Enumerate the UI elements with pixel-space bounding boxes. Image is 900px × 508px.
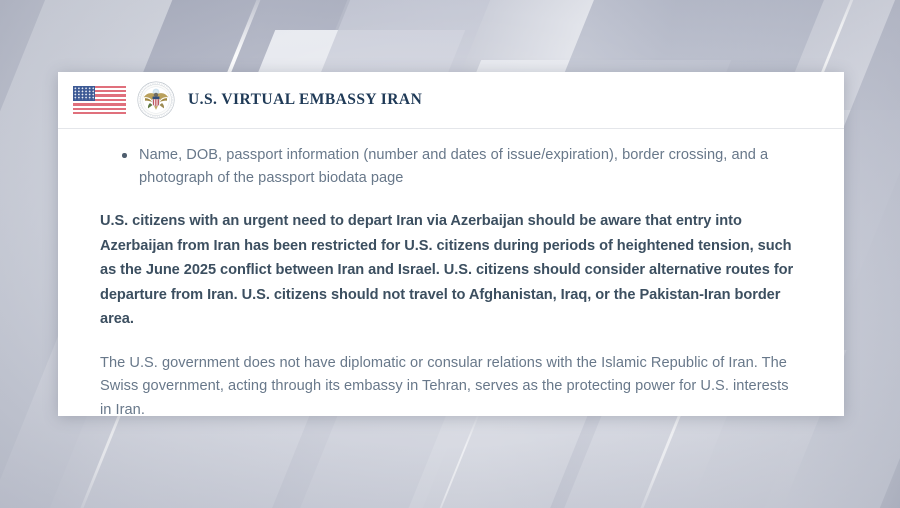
list-item: Name, DOB, passport information (number … — [118, 144, 800, 189]
document-card: U.S. VIRTUAL EMBASSY IRAN Name, DOB, pas… — [58, 72, 844, 416]
header-divider — [58, 128, 844, 129]
background-highlight — [431, 410, 481, 508]
document-header: U.S. VIRTUAL EMBASSY IRAN — [58, 72, 844, 128]
page-title: U.S. VIRTUAL EMBASSY IRAN — [188, 91, 422, 109]
closing-paragraph: The U.S. government does not have diplom… — [100, 352, 800, 423]
great-seal-of-the-united-states-icon — [137, 81, 175, 119]
us-flag-icon — [73, 86, 126, 115]
requirements-list: Name, DOB, passport information (number … — [118, 144, 800, 189]
emphasis-paragraph: U.S. citizens with an urgent need to dep… — [100, 209, 800, 332]
document-body: Name, DOB, passport information (number … — [58, 128, 844, 422]
